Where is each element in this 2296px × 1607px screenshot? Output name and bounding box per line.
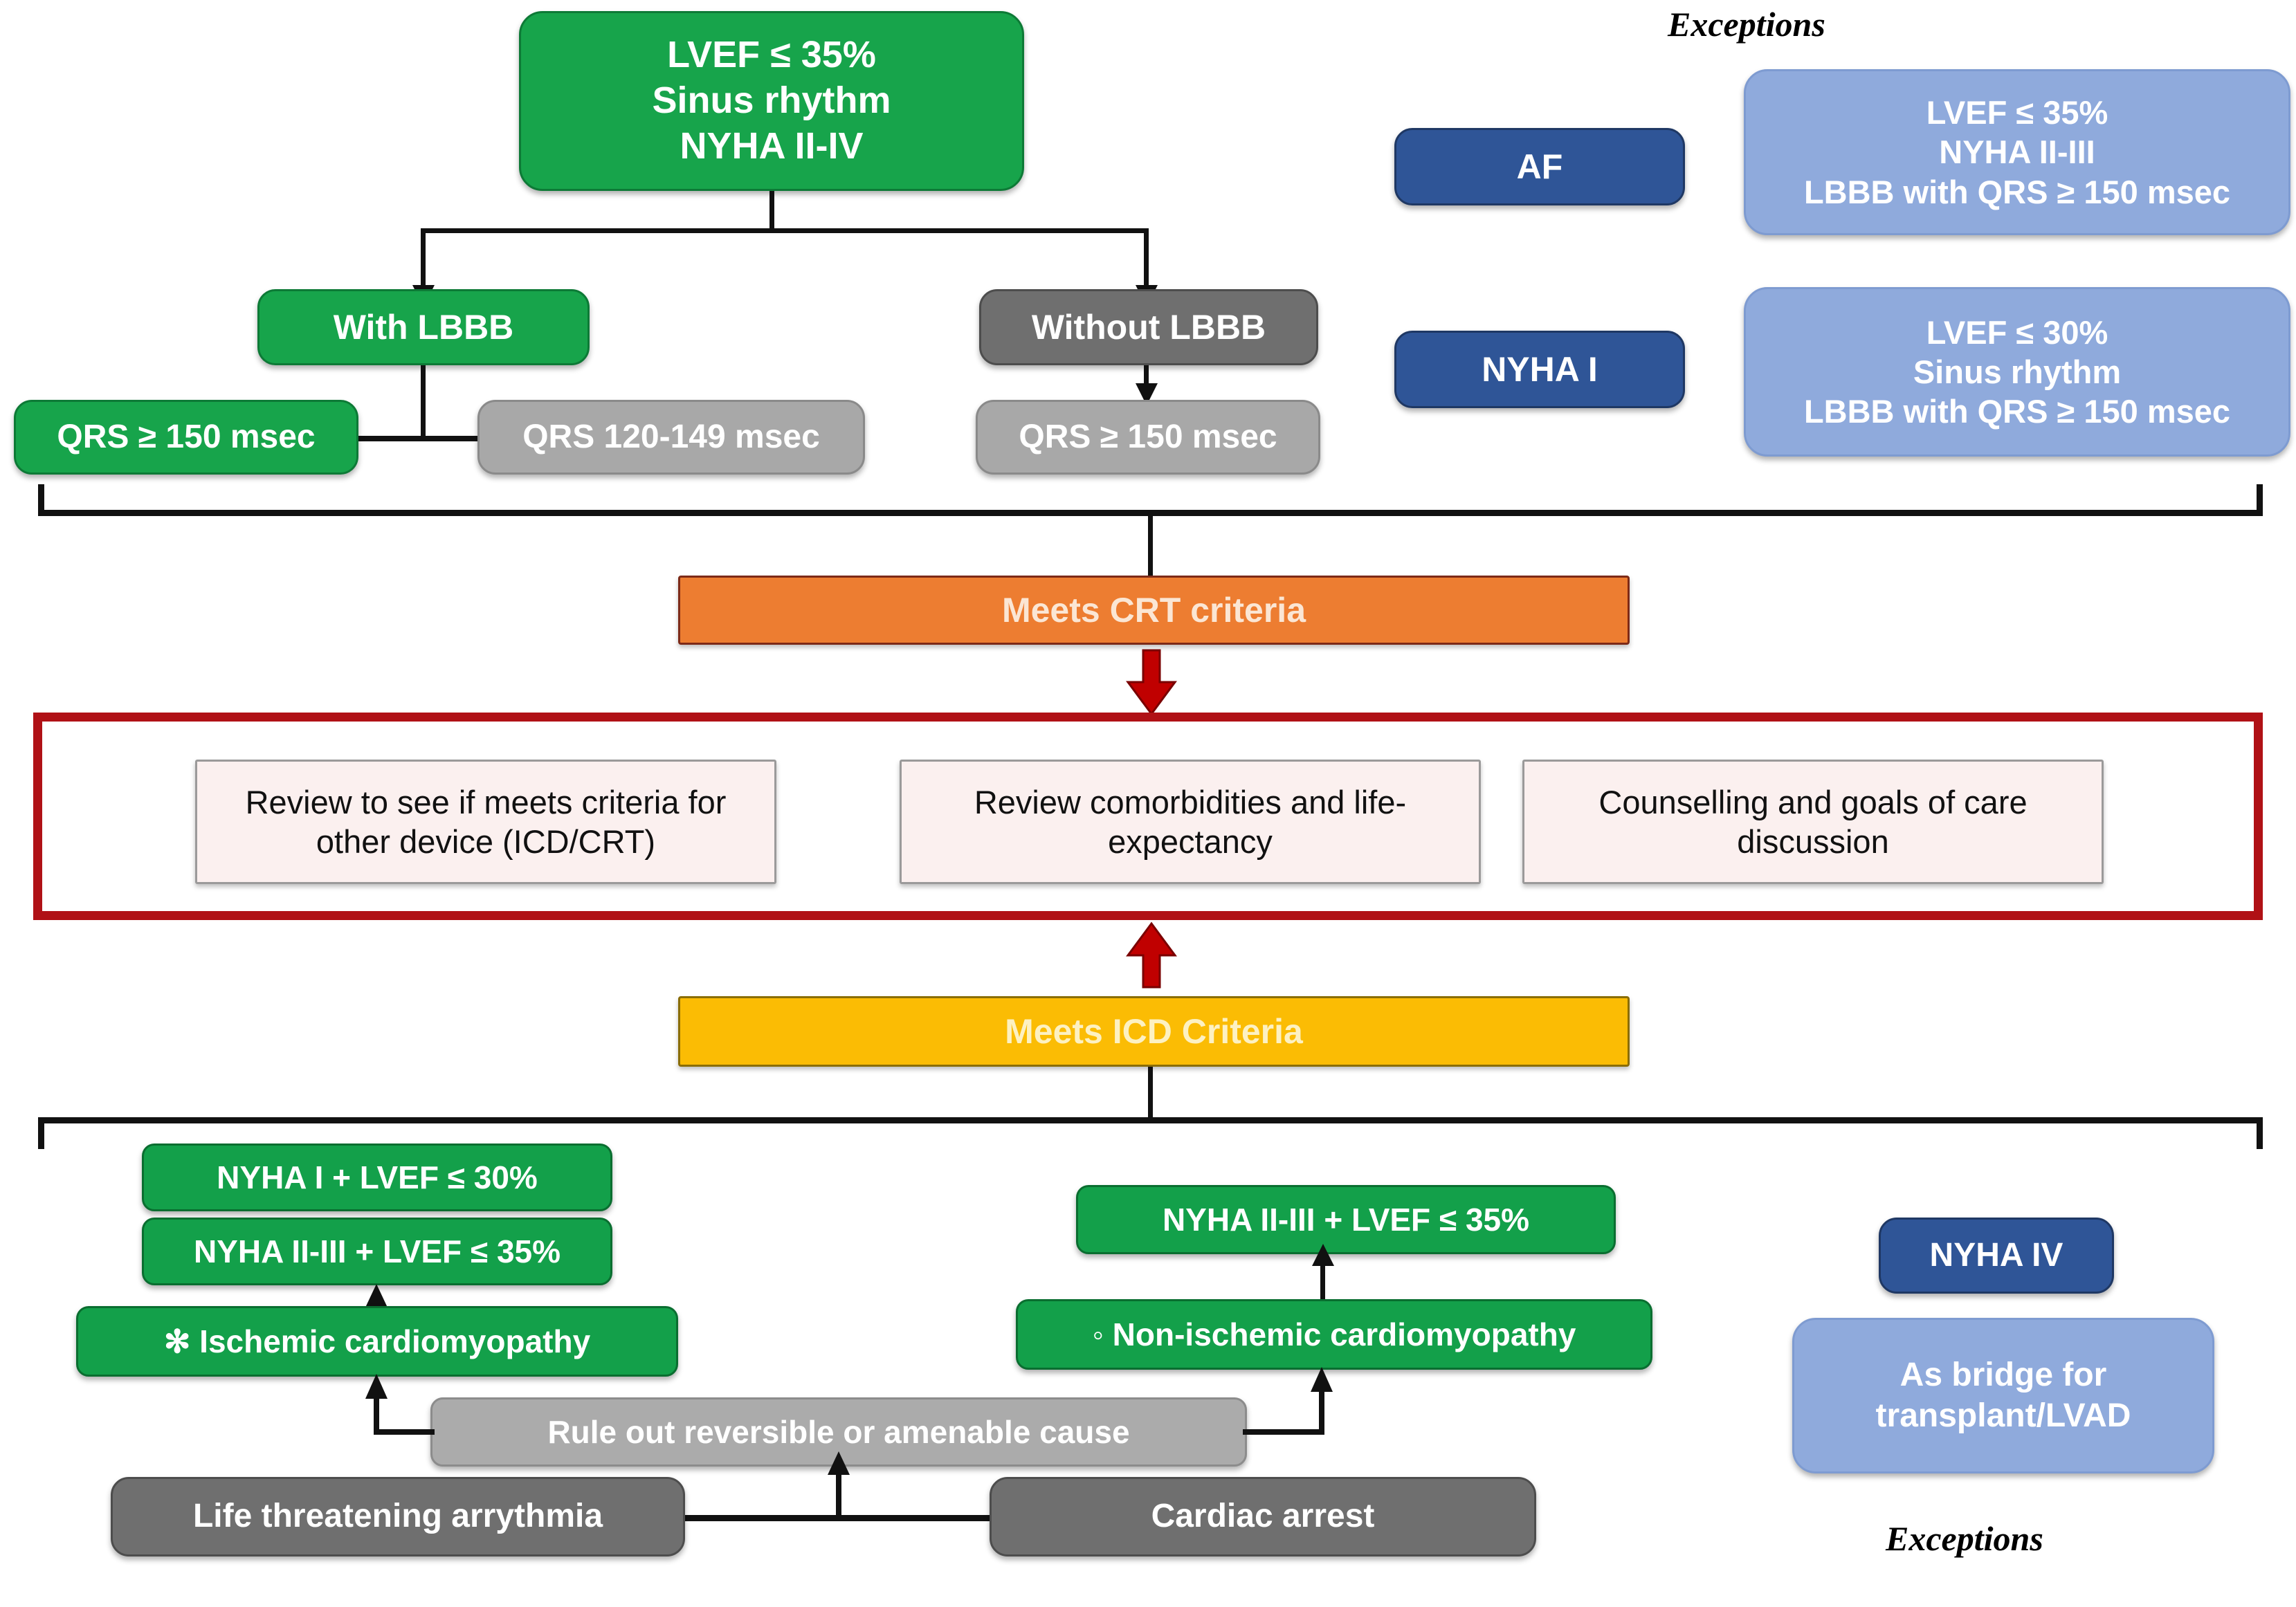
- arrowhead-ruleout-to-nonischemic: [1308, 1367, 1336, 1395]
- exceptions-top-heading: Exceptions: [1668, 4, 1825, 44]
- bracket-icd-horizontal: [38, 1117, 2263, 1123]
- connector-ruleout-right-vertical: [1319, 1390, 1324, 1433]
- without-lbbb-box: Without LBBB: [979, 289, 1318, 365]
- bridge-line-2: transplant/LVAD: [1876, 1396, 2131, 1437]
- bracket-icd-right-tick: [2257, 1117, 2263, 1149]
- connector-split-horizontal: [421, 228, 1149, 233]
- bracket-crt-right-tick: [2257, 484, 2263, 516]
- bracket-crt-horizontal: [38, 510, 2263, 516]
- review-item-other-device: Review to see if meets criteria for othe…: [195, 760, 776, 884]
- arrow-icd-to-review: [1122, 924, 1181, 987]
- icd-right-nyha23-box: NYHA II-III + LVEF ≤ 35%: [1076, 1185, 1616, 1254]
- connector-ruleout-right-horizontal: [1243, 1429, 1324, 1435]
- connector-lbbb-stem: [421, 365, 426, 438]
- connector-ruleout-left-horizontal: [374, 1429, 435, 1435]
- af-line-3: LBBB with QRS ≥ 150 msec: [1804, 172, 2230, 212]
- connector-causes-up: [836, 1472, 841, 1518]
- nyha1-line-3: LBBB with QRS ≥ 150 msec: [1804, 392, 2230, 431]
- flowchart-canvas: LVEF ≤ 35% Sinus rhythm NYHA II-IV With …: [0, 0, 2296, 1607]
- bracket-icd-left-tick: [38, 1117, 44, 1149]
- connector-root-stem: [769, 191, 774, 231]
- bridge-line-1: As bridge for: [1876, 1355, 2131, 1396]
- arrow-crt-to-review: [1122, 650, 1181, 714]
- arrowhead-ischemic-up: [363, 1284, 390, 1309]
- icd-left-ischemic-box: ✻ Ischemic cardiomyopathy: [76, 1306, 678, 1377]
- arrowhead-ruleout-to-ischemic: [363, 1374, 390, 1402]
- root-criteria-box: LVEF ≤ 35% Sinus rhythm NYHA II-IV: [519, 11, 1024, 191]
- life-threatening-arrythmia-box: Life threatening arrythmia: [111, 1477, 685, 1557]
- icd-left-nyha1-box: NYHA I + LVEF ≤ 30%: [142, 1144, 612, 1211]
- qrs-120-149-box: QRS 120-149 msec: [477, 400, 865, 475]
- meets-crt-criteria-bar: Meets CRT criteria: [678, 576, 1630, 645]
- meets-icd-criteria-bar: Meets ICD Criteria: [678, 996, 1630, 1067]
- exception-detail-af: LVEF ≤ 35% NYHA II-III LBBB with QRS ≥ 1…: [1744, 69, 2290, 235]
- exception-detail-nyha1: LVEF ≤ 30% Sinus rhythm LBBB with QRS ≥ …: [1744, 287, 2290, 457]
- root-line-1: LVEF ≤ 35%: [652, 33, 891, 78]
- qrs-150-green-box: QRS ≥ 150 msec: [14, 400, 358, 475]
- nyha1-line-2: Sinus rhythm: [1804, 352, 2230, 392]
- exception-tag-nyha1: NYHA I: [1394, 331, 1685, 408]
- exception-tag-af: AF: [1394, 128, 1685, 205]
- cardiac-arrest-box: Cardiac arrest: [990, 1477, 1536, 1557]
- icd-right-nonischemic-box: ◦ Non-ischemic cardiomyopathy: [1016, 1299, 1652, 1370]
- root-line-3: NYHA II-IV: [652, 124, 891, 169]
- qrs-150-gray-box: QRS ≥ 150 msec: [976, 400, 1320, 475]
- review-item-counselling: Counselling and goals of care discussion: [1522, 760, 2104, 884]
- arrowhead-nonischemic-up: [1309, 1244, 1337, 1267]
- bracket-icd-stem: [1148, 1067, 1153, 1122]
- bracket-crt-stem: [1148, 516, 1153, 577]
- bracket-crt-left-tick: [38, 484, 44, 516]
- icd-left-nyha23-box: NYHA II-III + LVEF ≤ 35%: [142, 1218, 612, 1285]
- review-item-comorbidities: Review comorbidities and life-expectancy: [900, 760, 1481, 884]
- exceptions-bottom-heading: Exceptions: [1886, 1518, 2043, 1559]
- connector-ruleout-left-vertical: [374, 1399, 379, 1435]
- arrowhead-causes-to-ruleout: [825, 1451, 853, 1478]
- exception-detail-bridge: As bridge for transplant/LVAD: [1792, 1318, 2214, 1473]
- af-line-1: LVEF ≤ 35%: [1804, 93, 2230, 132]
- af-line-2: NYHA II-III: [1804, 132, 2230, 172]
- nyha1-line-1: LVEF ≤ 30%: [1804, 313, 2230, 352]
- root-line-2: Sinus rhythm: [652, 78, 891, 124]
- exception-tag-nyha4: NYHA IV: [1879, 1218, 2114, 1294]
- with-lbbb-box: With LBBB: [257, 289, 590, 365]
